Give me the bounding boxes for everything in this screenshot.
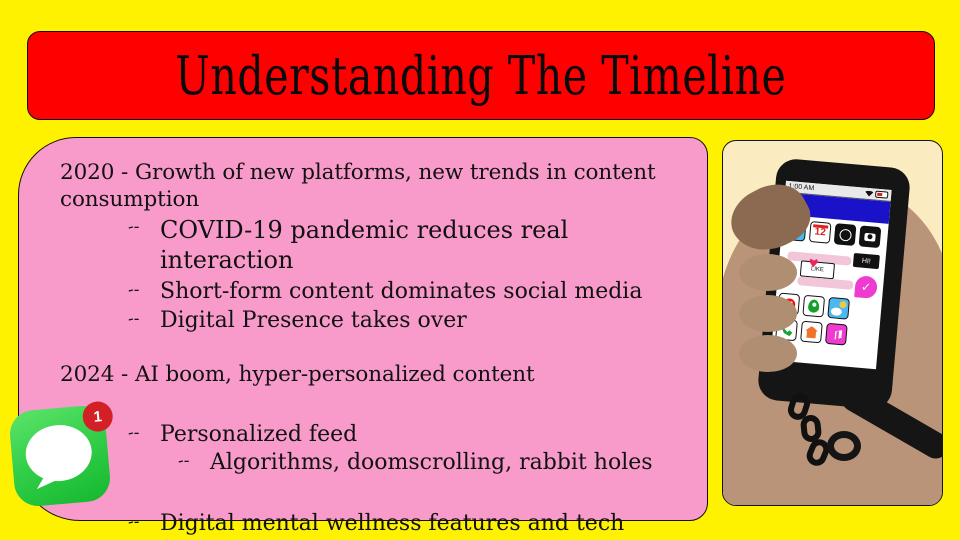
timeline-body-text: 2020 - Growth of new platforms, new tren… xyxy=(60,159,685,540)
bullet-dash-icon: - xyxy=(128,512,140,533)
home-icon xyxy=(800,321,823,344)
block-spacer xyxy=(60,388,685,419)
check-bubble-icon: ✓ xyxy=(854,275,878,299)
clock-icon xyxy=(834,223,857,246)
bullet-covid-label: COVID-19 pandemic reduces real interacti… xyxy=(160,216,568,274)
block-spacer xyxy=(60,335,685,361)
block-2024-heading: 2024 - AI boom, hyper-personalized conte… xyxy=(60,361,685,388)
wifi-icon xyxy=(865,190,873,197)
chat-placeholder-line xyxy=(797,276,854,290)
slide-canvas: Understanding The Timeline 2020 - Growth… xyxy=(0,0,960,540)
bullet-dash-icon: - xyxy=(128,280,140,301)
bullet-digital-presence-label: Digital Presence takes over xyxy=(160,308,467,333)
bullet-digital-presence: - Digital Presence takes over xyxy=(60,307,685,335)
photos-icon xyxy=(827,297,850,320)
bullet-short-form-label: Short-form content dominates social medi… xyxy=(160,279,642,304)
music-icon xyxy=(825,323,848,346)
status-bar-icons xyxy=(865,190,889,199)
bullet-short-form: - Short-form content dominates social me… xyxy=(60,278,685,306)
bullet-covid: - COVID-19 pandemic reduces real interac… xyxy=(60,215,685,275)
finger-shape xyxy=(739,254,797,291)
sub-bullet-algorithms-label: Algorithms, doomscrolling, rabbit holes xyxy=(210,450,653,475)
bullet-wellness: - Digital mental wellness features and t… xyxy=(60,510,685,540)
camera-icon xyxy=(859,225,882,248)
bullet-wellness-label: Digital mental wellness features and tec… xyxy=(160,511,624,540)
title-banner: Understanding The Timeline xyxy=(27,31,935,120)
chat-bubble-hi: HI! xyxy=(853,253,880,269)
page-title: Understanding The Timeline xyxy=(175,49,786,103)
block-spacer xyxy=(60,477,685,508)
sub-bullet-dash-icon: - xyxy=(178,451,190,472)
bullet-dash-icon: - xyxy=(128,217,140,238)
bullet-personalized-feed: - Personalized feed xyxy=(60,421,685,449)
finger-shape xyxy=(739,335,797,372)
sub-bullet-algorithms: - Algorithms, doomscrolling, rabbit hole… xyxy=(60,449,685,477)
illustration-panel: 1:00 AM 12 HI! LIKE ✓ xyxy=(722,140,943,506)
bullet-personalized-feed-label: Personalized feed xyxy=(160,422,357,447)
location-pin-icon xyxy=(802,295,825,318)
calendar-icon: 12 xyxy=(809,221,832,244)
handcuff-ring xyxy=(827,431,861,461)
block-2020-heading-line1: 2020 - Growth of new platforms, new tren… xyxy=(60,159,685,186)
block-2020-heading-line2: consumption xyxy=(60,186,685,213)
finger-shape xyxy=(739,295,797,332)
bullet-dash-icon: - xyxy=(128,309,140,330)
bullet-dash-icon: - xyxy=(128,423,140,444)
content-panel: 2020 - Growth of new platforms, new tren… xyxy=(18,137,708,521)
messages-app-icon: 1 xyxy=(8,404,112,508)
battery-icon xyxy=(875,191,889,199)
